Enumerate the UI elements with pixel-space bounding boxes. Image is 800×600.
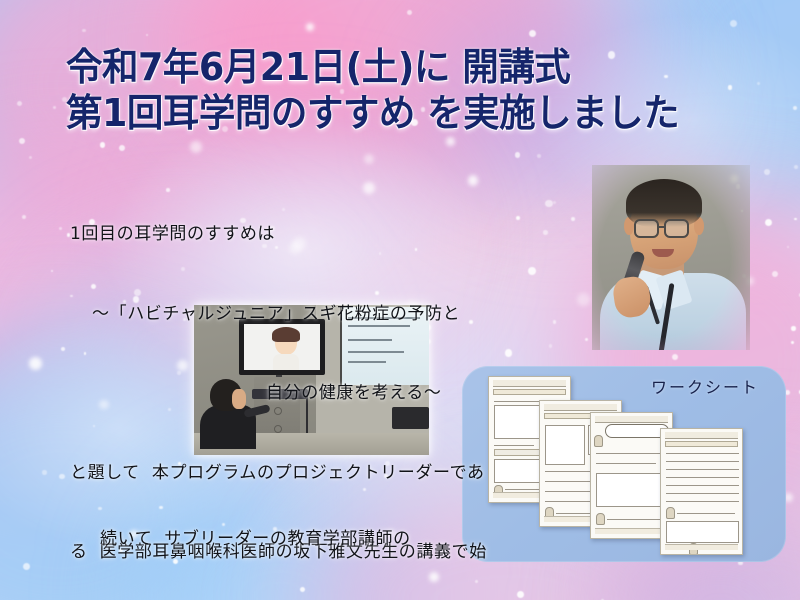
discussion-paragraph: 続いて サブリーダーの教育学部講師の 小林渓太先生による ワークシートを活用 し… (70, 473, 411, 600)
portrait-scene (592, 165, 750, 350)
worksheet-label: ワークシート (651, 374, 759, 398)
intro-line-2: 〜「ハビチャルジュニア」スギ花粉症の予防と (70, 301, 487, 328)
slide-canvas: 令和7年6月21日(土)に 開講式 第1回耳学問のすすめ を実施しました 1回目… (0, 0, 800, 600)
speaker-portrait-photo (592, 165, 750, 350)
intro-line-3: 自分の健康を考える〜 (70, 380, 487, 407)
intro-line-1: 1回目の耳学問のすすめは (70, 221, 487, 248)
discussion-line-1: 続いて サブリーダーの教育学部講師の (70, 526, 411, 553)
worksheet-sheet-4 (660, 428, 743, 555)
title-line-2: 第1回耳学問のすすめ を実施しました (66, 90, 738, 136)
title-line-1: 令和7年6月21日(土)に 開講式 (66, 44, 738, 90)
page-title: 令和7年6月21日(土)に 開講式 第1回耳学問のすすめ を実施しました (66, 44, 766, 136)
